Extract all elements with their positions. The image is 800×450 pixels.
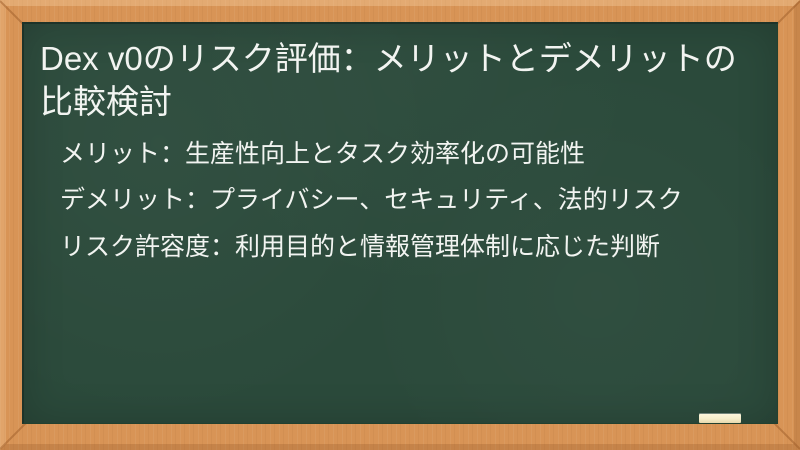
chalk-stick-icon (699, 414, 741, 423)
slide-bullet-list: メリット：生産性向上とタスク効率化の可能性 デメリット：プライバシー、セキュリテ… (38, 138, 759, 264)
bullet-item-2: デメリット：プライバシー、セキュリティ、法的リスク (60, 184, 750, 217)
bullet-item-1: メリット：生産性向上とタスク効率化の可能性 (60, 138, 750, 171)
bullet-item-3: リスク許容度：利用目的と情報管理体制に応じた判断 (60, 231, 750, 264)
slide-content: Dex v0のリスク評価：メリットとデメリットの比較検討 メリット：生産性向上と… (24, 24, 777, 423)
slide-title: Dex v0のリスク評価：メリットとデメリットの比較検討 (38, 34, 759, 124)
chalkboard-slide: Dex v0のリスク評価：メリットとデメリットの比較検討 メリット：生産性向上と… (0, 0, 800, 450)
chalkboard-surface: Dex v0のリスク評価：メリットとデメリットの比較検討 メリット：生産性向上と… (22, 22, 778, 424)
